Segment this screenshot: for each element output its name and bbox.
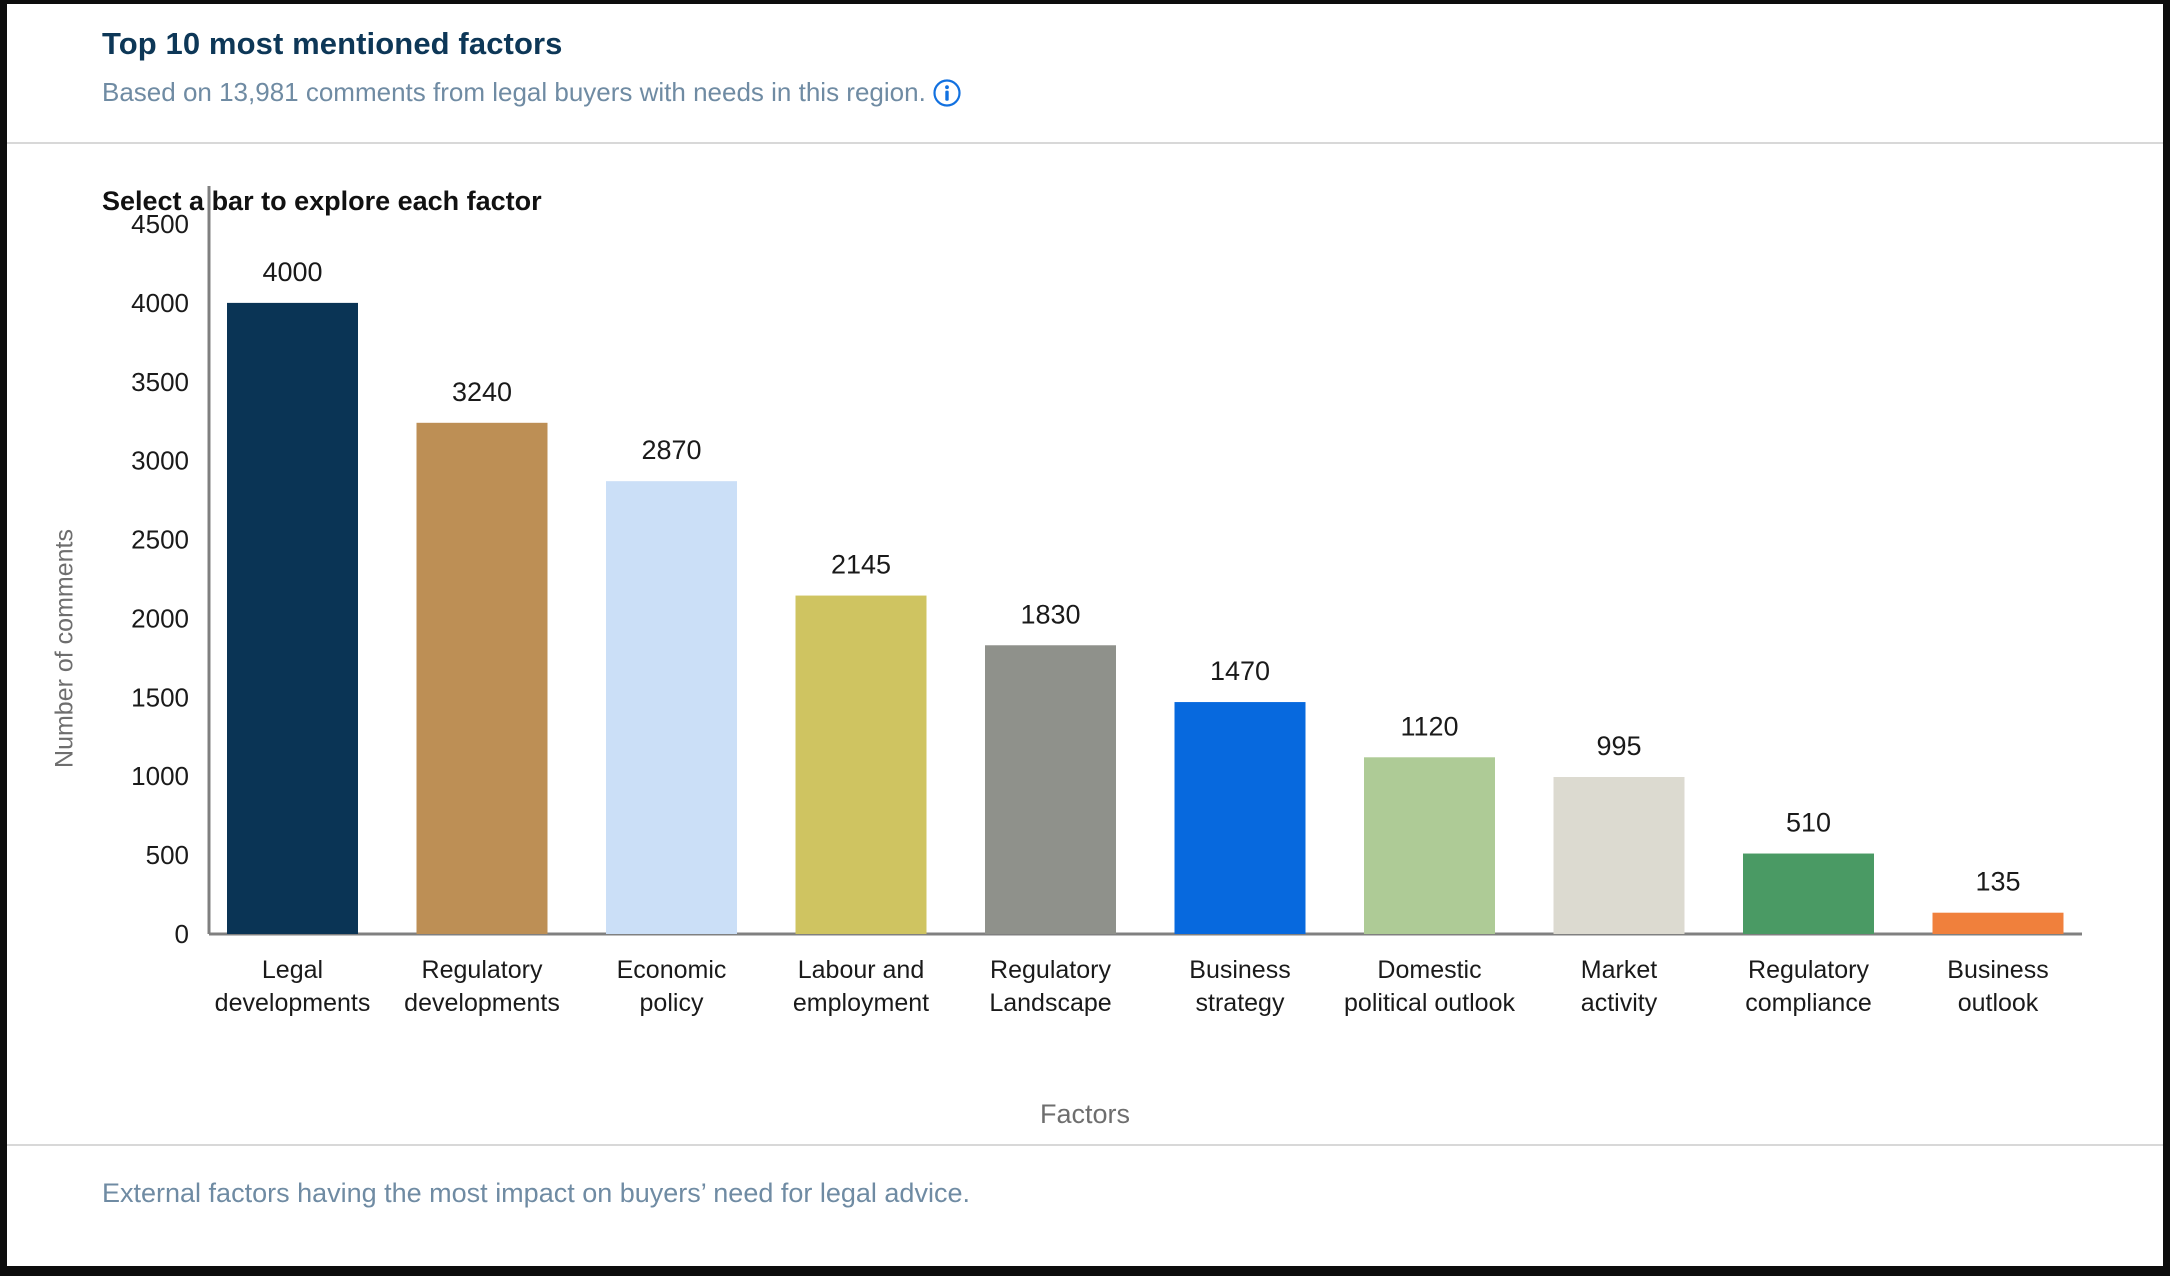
bar-value-label: 3240 [452,377,512,407]
y-tick-label: 3000 [131,446,189,476]
bar-value-label: 2870 [641,435,701,465]
x-tick-label: developments [215,989,371,1017]
y-tick-label: 500 [146,840,189,870]
bar-value-label: 1120 [1400,711,1458,741]
card-header: Top 10 most mentioned factors Based on 1… [7,4,2163,144]
y-tick-label: 1500 [131,682,189,712]
y-tick-label: 2500 [131,525,189,555]
y-tick-label: 4500 [131,209,189,239]
bar-value-label: 510 [1786,808,1831,838]
x-tick-label: Legal [262,956,323,984]
bar-value-label: 1470 [1210,656,1270,686]
bar-chart: Number of comments Factors 0500100015002… [7,144,2163,1144]
bar-value-label: 2145 [831,550,891,580]
bar-group[interactable]: 135Businessoutlook [1933,867,2064,1017]
x-tick-label: employment [793,989,929,1017]
footer-caption: External factors having the most impact … [102,1178,970,1208]
x-axis-title: Factors [7,1099,2163,1130]
bar-value-label: 995 [1596,731,1641,761]
x-tick-label: political outlook [1344,989,1515,1017]
bar[interactable] [1364,757,1495,934]
bar-group[interactable]: 4000Legaldevelopments [215,257,371,1017]
x-tick-label: outlook [1958,989,2039,1017]
y-tick-label: 2000 [131,603,189,633]
x-tick-label: Regulatory [1748,956,1869,984]
bar-value-label: 4000 [262,257,322,287]
page-title: Top 10 most mentioned factors [102,24,2163,64]
x-tick-label: developments [404,989,560,1017]
bar[interactable] [985,645,1116,934]
info-icon[interactable] [932,78,962,108]
card-subtitle: Based on 13,981 comments from legal buye… [102,76,926,110]
chart-body: Select a bar to explore each factor Numb… [7,144,2163,1144]
y-tick-label: 0 [175,919,189,949]
bar-group[interactable]: 1120Domesticpolitical outlook [1344,711,1515,1017]
bar[interactable] [796,596,927,934]
subtitle-row: Based on 13,981 comments from legal buye… [102,76,2163,110]
bar-group[interactable]: 1470Businessstrategy [1175,656,1306,1017]
bar[interactable] [227,303,358,934]
bar-group[interactable]: 2145Labour andemployment [793,550,929,1017]
x-tick-label: Labour and [798,956,925,984]
x-tick-label: Regulatory [990,956,1111,984]
x-tick-label: compliance [1745,989,1871,1017]
bar[interactable] [606,481,737,934]
chart-canvas: 0500100015002000250030003500400045004000… [7,144,2163,1144]
bar-value-label: 1830 [1020,599,1080,629]
x-tick-label: Domestic [1377,956,1481,984]
x-tick-label: Landscape [989,989,1111,1017]
y-tick-label: 1000 [131,761,189,791]
card-footer: External factors having the most impact … [7,1144,2163,1259]
bar-group[interactable]: 995Marketactivity [1554,731,1685,1017]
bar[interactable] [1933,913,2064,934]
bar-value-label: 135 [1975,867,2020,897]
x-tick-label: policy [640,989,704,1017]
x-tick-label: Business [1947,956,2048,984]
report-card: Top 10 most mentioned factors Based on 1… [0,0,2170,1276]
bar-group[interactable]: 2870Economicpolicy [606,435,737,1017]
x-tick-label: Market [1581,956,1657,984]
bar-group[interactable]: 1830RegulatoryLandscape [985,599,1116,1017]
bar[interactable] [1175,702,1306,934]
y-tick-label: 3500 [131,367,189,397]
y-axis-title: Number of comments [51,499,80,799]
x-tick-label: Business [1189,956,1290,984]
bar-group[interactable]: 3240Regulatorydevelopments [404,377,560,1017]
x-tick-label: Economic [617,956,727,984]
x-tick-label: strategy [1196,989,1285,1017]
bar-group[interactable]: 510Regulatorycompliance [1743,808,1874,1017]
bar[interactable] [1554,777,1685,934]
bar[interactable] [1743,854,1874,934]
x-tick-label: Regulatory [422,956,543,984]
x-tick-label: activity [1581,989,1658,1017]
bar[interactable] [417,423,548,934]
y-tick-label: 4000 [131,288,189,318]
